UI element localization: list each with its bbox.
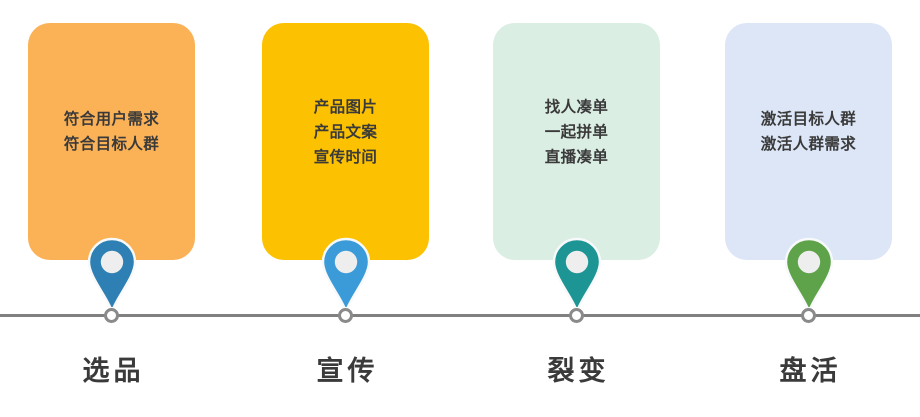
stage-card-line: 一起拼单 bbox=[545, 122, 609, 144]
stage-card-text: 产品图片产品文案宣传时间 bbox=[314, 97, 378, 187]
process-timeline-diagram: 符合用户需求符合目标人群选品产品图片产品文案宣传时间宣传找人凑单一起拼单直播凑单… bbox=[0, 0, 920, 417]
stage-card-line: 宣传时间 bbox=[314, 147, 378, 169]
stage-caption: 选品 bbox=[28, 358, 195, 385]
stage-card[interactable]: 符合用户需求符合目标人群 bbox=[28, 23, 195, 260]
stage-card-line: 激活目标人群 bbox=[761, 109, 856, 131]
stage-card-text: 激活目标人群激活人群需求 bbox=[761, 109, 856, 174]
stage-card-line: 符合目标人群 bbox=[64, 134, 159, 156]
stage-card-text: 找人凑单一起拼单直播凑单 bbox=[545, 97, 609, 187]
stage-caption: 宣传 bbox=[262, 358, 429, 385]
stage-4[interactable]: 激活目标人群激活人群需求盘活 bbox=[725, 0, 892, 417]
stage-card[interactable]: 产品图片产品文案宣传时间 bbox=[262, 23, 429, 260]
stage-card-line: 找人凑单 bbox=[545, 97, 609, 119]
stage-card-line: 直播凑单 bbox=[545, 147, 609, 169]
map-pin-icon bbox=[551, 237, 603, 311]
stage-card[interactable]: 激活目标人群激活人群需求 bbox=[725, 23, 892, 260]
map-pin-icon bbox=[86, 237, 138, 311]
timeline-axis bbox=[0, 314, 920, 317]
stage-1[interactable]: 符合用户需求符合目标人群选品 bbox=[28, 0, 195, 417]
stage-card-text: 符合用户需求符合目标人群 bbox=[64, 109, 159, 174]
stage-card[interactable]: 找人凑单一起拼单直播凑单 bbox=[493, 23, 660, 260]
stage-3[interactable]: 找人凑单一起拼单直播凑单裂变 bbox=[493, 0, 660, 417]
timeline-node[interactable] bbox=[338, 308, 353, 323]
stage-card-line: 产品文案 bbox=[314, 122, 378, 144]
timeline-node[interactable] bbox=[569, 308, 584, 323]
map-pin-icon bbox=[320, 237, 372, 311]
stage-card-line: 激活人群需求 bbox=[761, 134, 856, 156]
map-pin-icon bbox=[783, 237, 835, 311]
stage-card-line: 符合用户需求 bbox=[64, 109, 159, 131]
stage-card-line: 产品图片 bbox=[314, 97, 378, 119]
stage-2[interactable]: 产品图片产品文案宣传时间宣传 bbox=[262, 0, 429, 417]
stage-caption: 盘活 bbox=[725, 358, 892, 385]
timeline-node[interactable] bbox=[104, 308, 119, 323]
stage-caption: 裂变 bbox=[493, 358, 660, 385]
timeline-node[interactable] bbox=[801, 308, 816, 323]
